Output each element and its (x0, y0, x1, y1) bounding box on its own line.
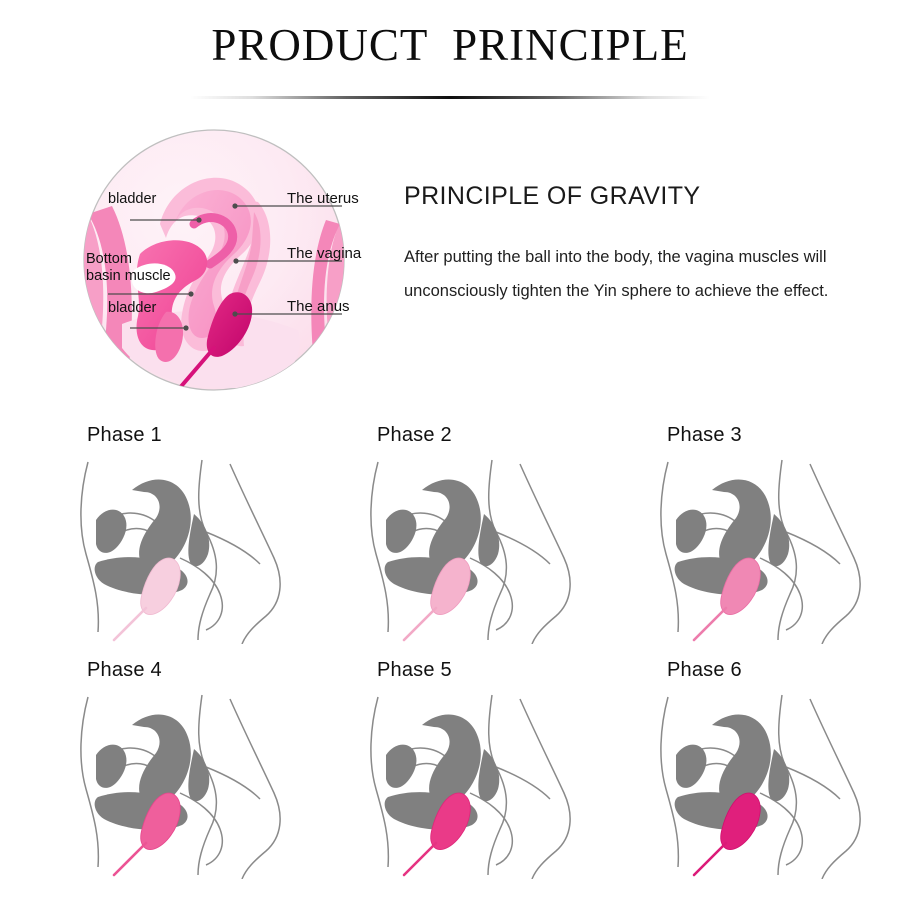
phase-cell-6: Phase 6 (642, 647, 900, 882)
body-outline-1 (81, 460, 280, 644)
phase-cell-5: Phase 5 (352, 647, 642, 882)
page-header: PRODUCT PRINCIPLE (0, 22, 900, 69)
leader-dot-bladder-lower (183, 325, 188, 330)
label-bottom-basin-muscle: Bottom basin muscle (86, 251, 171, 285)
body-outline-5 (371, 695, 570, 879)
phase-figure-6 (650, 689, 900, 884)
leader-dot-bladder-upper (196, 217, 201, 222)
label-bladder-lower: bladder (108, 300, 156, 316)
anatomy-figure-svg-4 (70, 689, 320, 879)
phase-label-5: Phase 5 (377, 659, 452, 682)
anatomy-figure-svg-2 (360, 454, 610, 644)
phase-cell-4: Phase 4 (62, 647, 352, 882)
label-bladder-upper: bladder (108, 191, 156, 207)
gravity-body: After putting the ball into the body, th… (404, 241, 854, 309)
phase-figure-3 (650, 454, 900, 649)
body-outline-4 (81, 695, 280, 879)
body-outline-2 (371, 460, 570, 644)
label-layer (30, 124, 330, 414)
page-title: PRODUCT PRINCIPLE (0, 22, 900, 69)
anatomy-figure-svg-3 (650, 454, 900, 644)
phase-label-6: Phase 6 (667, 659, 742, 682)
anatomy-diagram: bladder Bottom basin muscle bladder The … (82, 128, 346, 392)
label-the-vagina: The vagina (287, 245, 361, 262)
ball-tail-2 (404, 608, 436, 640)
phase-figure-1 (70, 454, 320, 649)
anatomy-figure-svg-1 (70, 454, 320, 644)
anatomy-figure-svg-6 (650, 689, 900, 879)
leader-dot-basin-muscle (188, 291, 193, 296)
phase-figure-2 (360, 454, 610, 649)
ball-tail-6 (694, 843, 726, 875)
title-divider (190, 96, 710, 99)
ball-tail-3 (694, 608, 726, 640)
label-the-uterus: The uterus (287, 190, 359, 207)
phase-label-3: Phase 3 (667, 424, 742, 447)
gravity-section: PRINCIPLE OF GRAVITY After putting the b… (404, 182, 874, 309)
body-outline-6 (661, 695, 860, 879)
label-the-anus: The anus (287, 298, 350, 315)
phase-figure-4 (70, 689, 320, 884)
phase-label-4: Phase 4 (87, 659, 162, 682)
phase-cell-1: Phase 1 (62, 412, 352, 647)
body-outline-3 (661, 460, 860, 644)
phase-grid: Phase 1 (62, 412, 900, 882)
label-basin-line2: basin muscle (86, 268, 171, 285)
phase-label-1: Phase 1 (87, 424, 162, 447)
gravity-heading: PRINCIPLE OF GRAVITY (404, 182, 874, 211)
ball-tail-4 (114, 843, 146, 875)
label-basin-line1: Bottom (86, 251, 171, 268)
phase-cell-3: Phase 3 (642, 412, 900, 647)
phase-label-2: Phase 2 (377, 424, 452, 447)
phase-figure-5 (360, 689, 610, 884)
ball-tail-1 (114, 608, 146, 640)
ball-tail-5 (404, 843, 436, 875)
phase-cell-2: Phase 2 (352, 412, 642, 647)
anatomy-figure-svg-5 (360, 689, 610, 879)
